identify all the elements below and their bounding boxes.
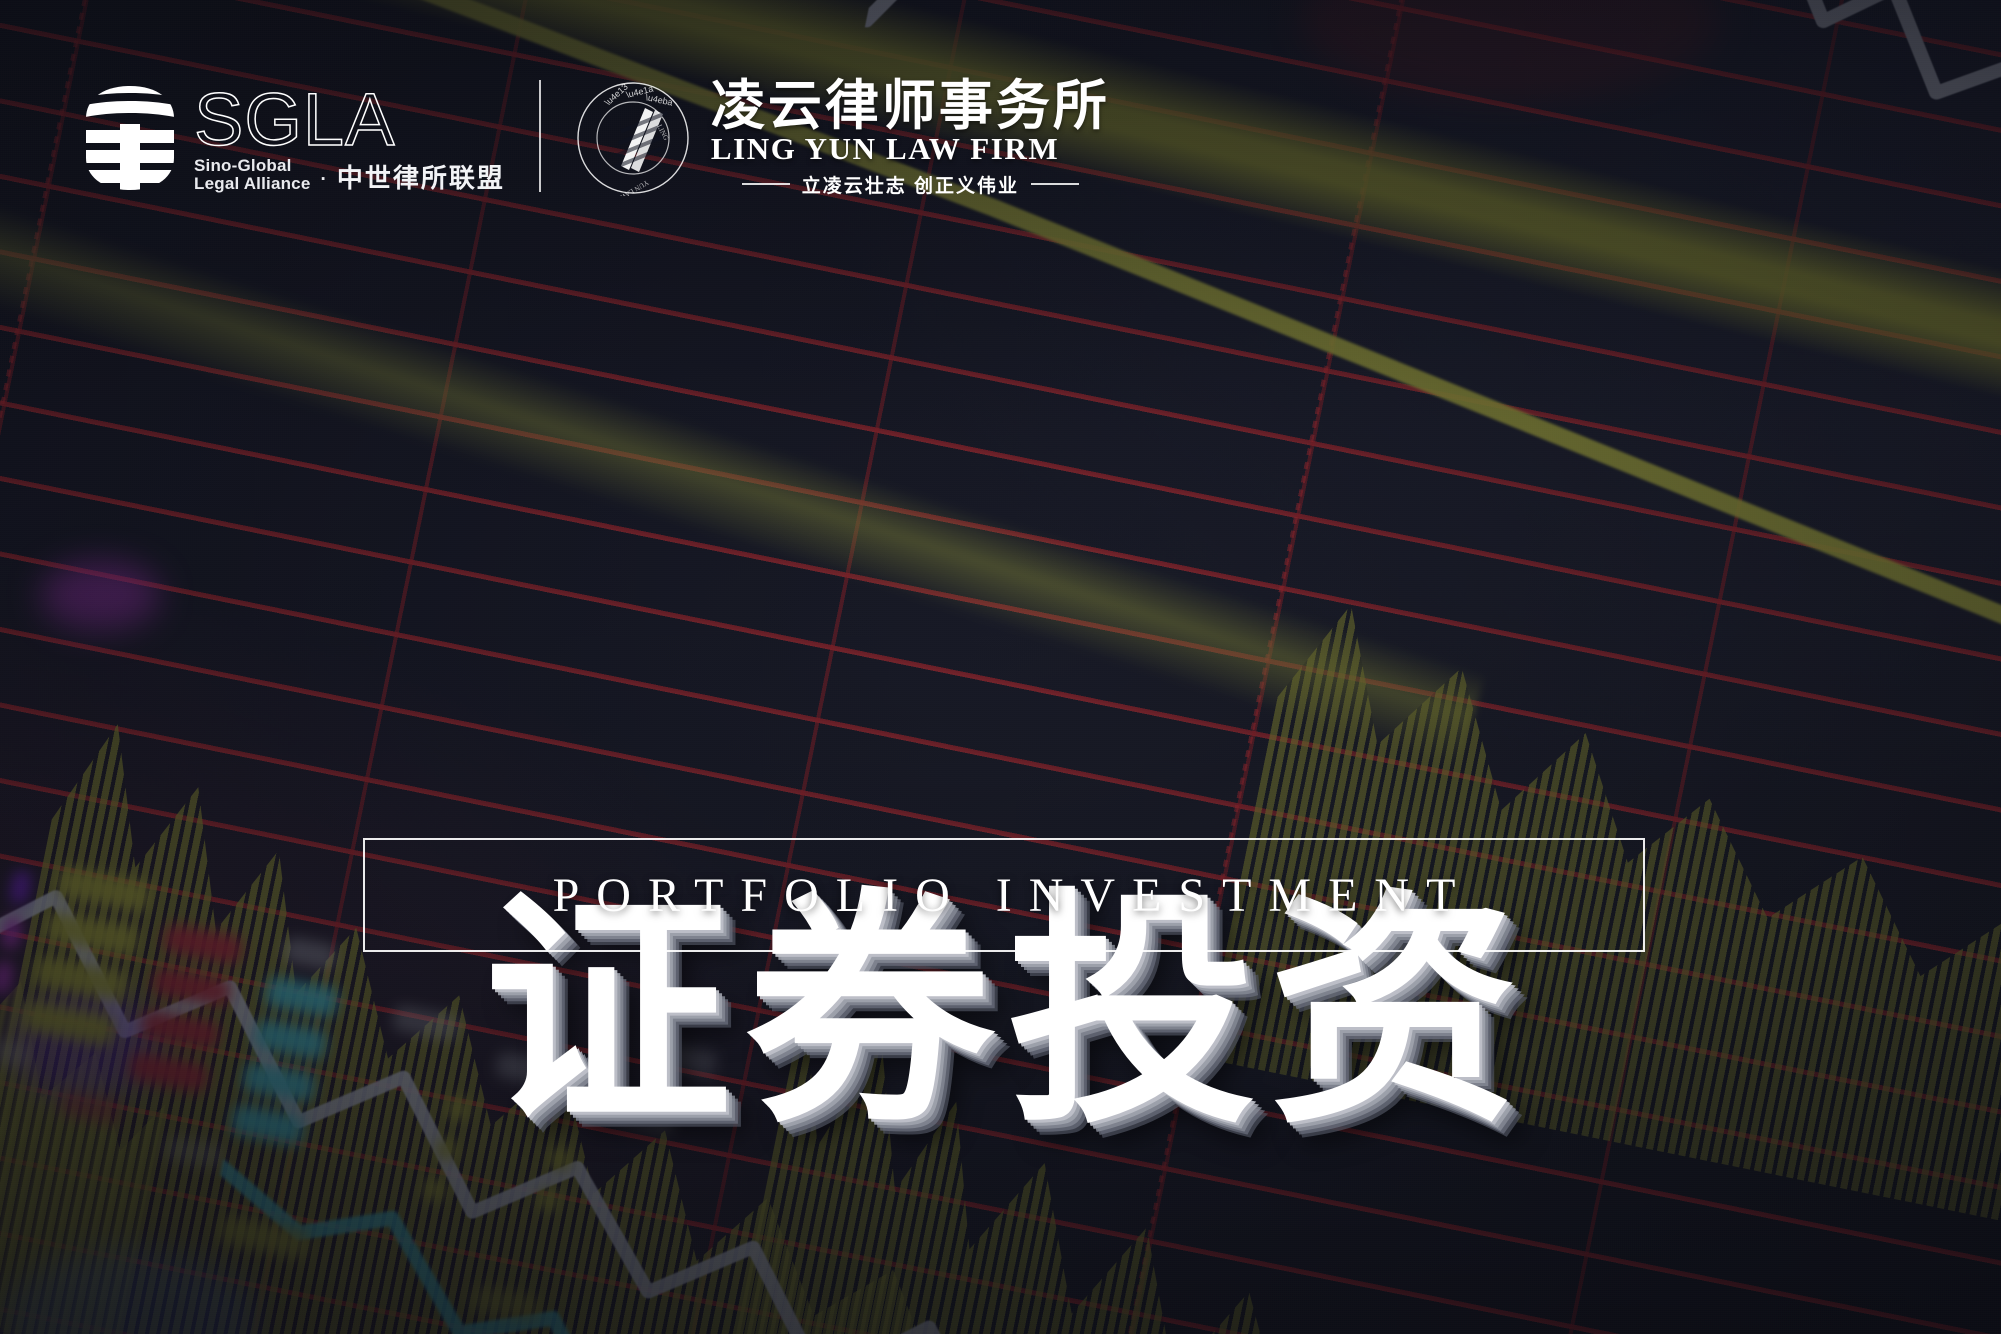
svg-text:YUN LAW: YUN LAW [618, 178, 650, 196]
subtitle-en: PORTFOLIO INVESTMENT [536, 868, 1473, 923]
headline-block: 证券投资 [0, 438, 2001, 698]
slogan-rule-left [742, 183, 790, 185]
sgla-subtitle-en-line1: Sino-Global [194, 157, 311, 174]
sgla-separator-dot: · [321, 169, 327, 192]
poster-canvas: SGLA Sino-Global Legal Alliance · 中世律所联盟 [0, 0, 2001, 1334]
lingyun-circular-seal-icon: \u4e13 \u4e1a \u4eba LING YUN LAW [575, 80, 691, 196]
sgla-logo[interactable]: SGLA Sino-Global Legal Alliance · 中世律所联盟 [78, 84, 505, 192]
lingyun-slogan: 立凌云壮志 创正义伟业 [802, 171, 1019, 198]
lingyun-name-en: LING YUN LAW FIRM [711, 132, 1110, 167]
logo-divider [539, 80, 541, 192]
lingyun-text-block: 凌云律师事务所 LING YUN LAW FIRM 立凌云壮志 创正义伟业 [711, 78, 1110, 198]
sgla-text-block: SGLA Sino-Global Legal Alliance · 中世律所联盟 [194, 90, 505, 192]
lingyun-slogan-row: 立凌云壮志 创正义伟业 [711, 171, 1110, 198]
sgla-subtitle-en: Sino-Global Legal Alliance [194, 157, 311, 192]
sgla-subtitle: Sino-Global Legal Alliance · 中世律所联盟 [194, 157, 505, 192]
slogan-rule-right [1031, 183, 1079, 185]
subtitle-box: PORTFOLIO INVESTMENT [363, 838, 1645, 952]
sgla-subtitle-en-line2: Legal Alliance [194, 175, 311, 192]
poster-content: SGLA Sino-Global Legal Alliance · 中世律所联盟 [0, 0, 2001, 1334]
sgla-striped-column-icon [78, 84, 182, 192]
sgla-wordmark: SGLA [194, 90, 505, 151]
logo-bar: SGLA Sino-Global Legal Alliance · 中世律所联盟 [78, 78, 1110, 198]
lingyun-name-cn: 凌云律师事务所 [711, 78, 1110, 134]
lingyun-logo[interactable]: \u4e13 \u4e1a \u4eba LING YUN LAW 凌云律师事务… [575, 78, 1110, 198]
sgla-subtitle-cn: 中世律所联盟 [337, 165, 505, 192]
